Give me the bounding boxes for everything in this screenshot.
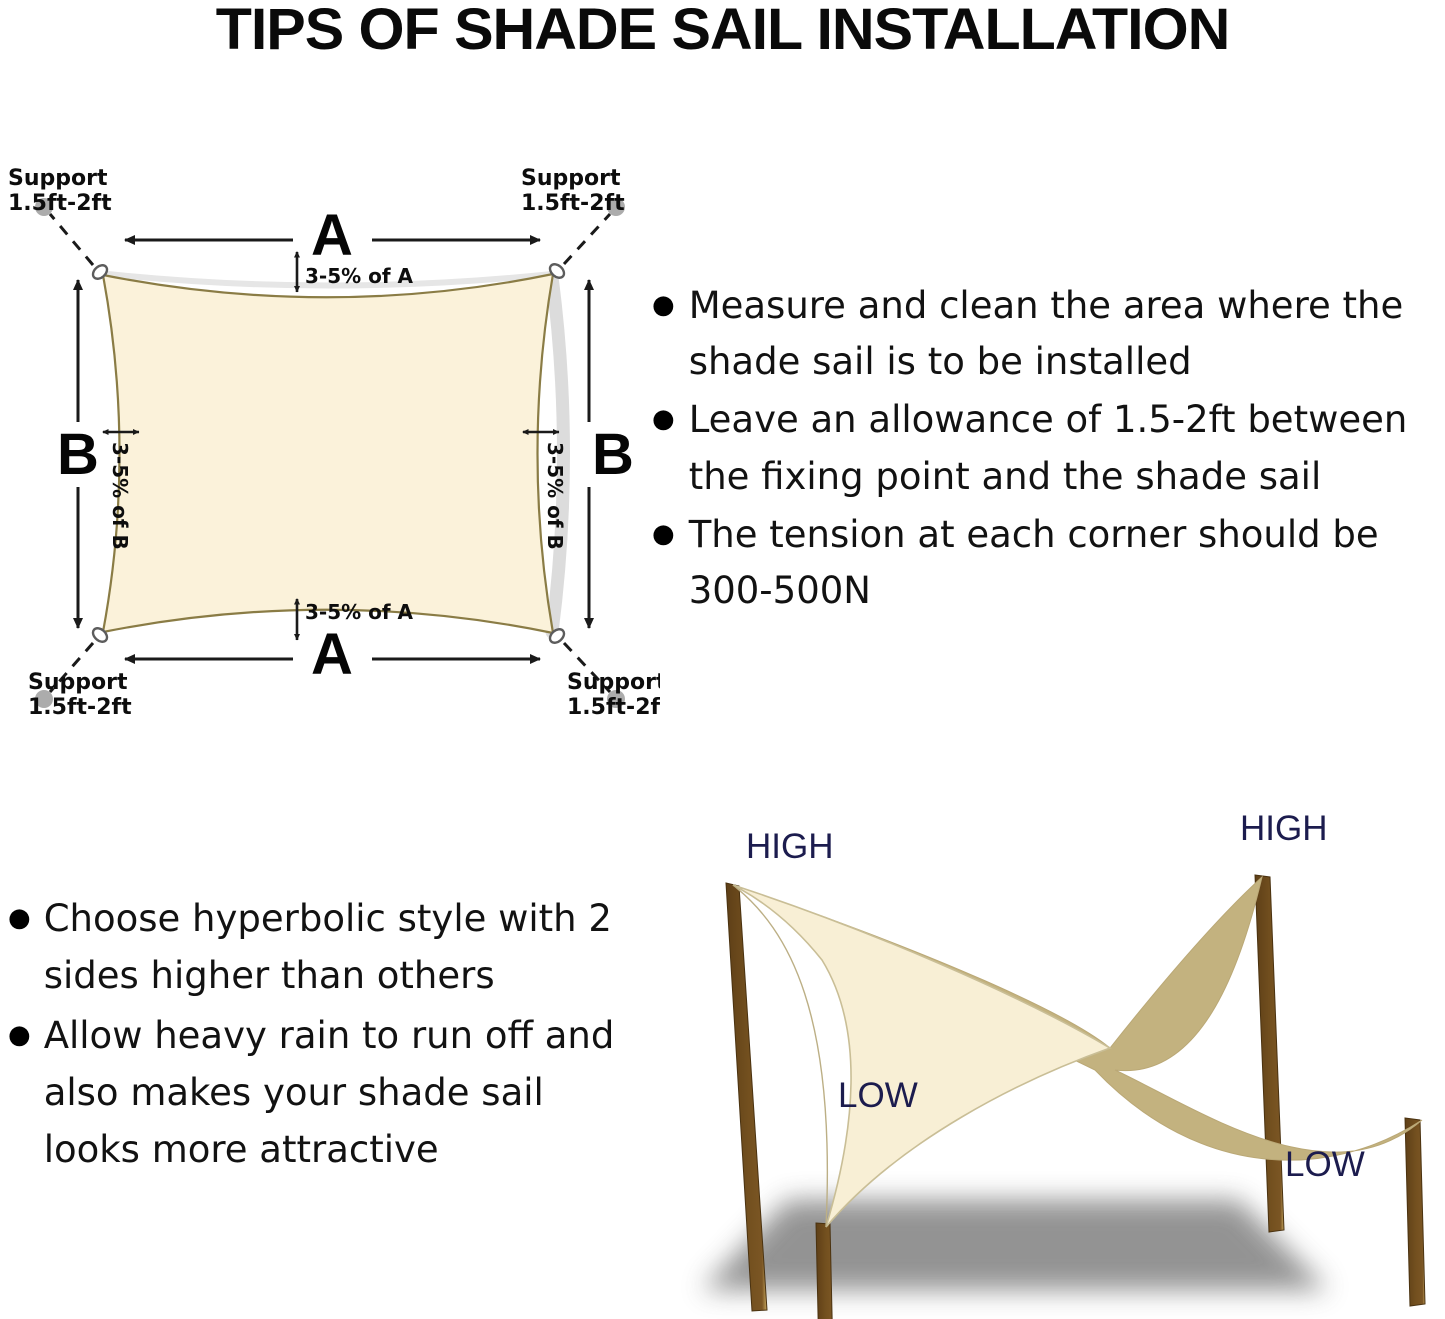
post-low-right	[1405, 1118, 1425, 1306]
label-low-right: LOW	[1285, 1145, 1365, 1184]
list-item: ● Leave an allowance of 1.5-2ft between …	[652, 392, 1445, 504]
support-top-left-line1: Support	[8, 166, 108, 191]
label-low-left: LOW	[838, 1076, 918, 1115]
dimension-a-top: A	[125, 203, 540, 268]
list-item-label: Choose hyperbolic style with 2 sides hig…	[44, 890, 628, 1005]
list-item-label: Measure and clean the area where the sha…	[689, 278, 1445, 390]
bullet-dot-icon: ●	[652, 292, 675, 318]
list-item-label: Allow heavy rain to run off and also mak…	[44, 1007, 628, 1179]
list-item: ● Measure and clean the area where the s…	[652, 278, 1445, 390]
post-high-right	[1255, 875, 1284, 1232]
ground-shadow	[702, 1200, 1328, 1290]
bullet-dot-icon: ●	[8, 1022, 31, 1048]
dimension-a-bottom-label: A	[311, 622, 353, 687]
support-top-right-line2: 1.5ft-2ft	[521, 191, 625, 216]
dimension-b-left-label: B	[57, 422, 99, 487]
dimension-a-bottom: A	[125, 622, 540, 687]
support-bottom-left-line2: 1.5ft-2ft	[28, 695, 132, 720]
sail-surface-front	[733, 885, 1110, 1227]
bullet-dot-icon: ●	[652, 521, 675, 547]
page-title: TIPS OF SHADE SAIL INSTALLATION	[0, 0, 1445, 63]
curve-depth-a-bottom-label: 3-5% of A	[305, 600, 414, 624]
support-top-right-line1: Support	[521, 166, 621, 191]
hyperbolic-sail-svg: HIGH HIGH LOW LOW	[640, 780, 1445, 1319]
support-bottom-right-line1: Support	[567, 670, 660, 695]
list-item-label: The tension at each corner should be 300…	[689, 507, 1445, 619]
bullet-dot-icon: ●	[652, 406, 675, 432]
dimension-a-top-label: A	[311, 203, 353, 268]
hyperbolic-tips-list: ● Choose hyperbolic style with 2 sides h…	[8, 890, 628, 1181]
list-item: ● Choose hyperbolic style with 2 sides h…	[8, 890, 628, 1005]
sail-body	[103, 274, 553, 633]
support-top-left-line2: 1.5ft-2ft	[8, 191, 112, 216]
dimension-b-left: B	[57, 280, 99, 628]
label-high-right: HIGH	[1240, 809, 1328, 848]
rectangle-sail-diagram: Support 1.5ft-2ft Support 1.5ft-2ft Supp…	[0, 162, 660, 732]
dimension-b-right-label: B	[592, 422, 634, 487]
curve-depth-b-right-label: 3-5% of B	[543, 442, 567, 550]
list-item-label: Leave an allowance of 1.5-2ft between th…	[689, 392, 1445, 504]
label-high-left: HIGH	[746, 827, 834, 866]
list-item: ● The tension at each corner should be 3…	[652, 507, 1445, 619]
list-item: ● Allow heavy rain to run off and also m…	[8, 1007, 628, 1179]
installation-tips-list: ● Measure and clean the area where the s…	[652, 278, 1445, 621]
rectangle-sail-svg: Support 1.5ft-2ft Support 1.5ft-2ft Supp…	[0, 162, 660, 732]
support-bottom-left-line1: Support	[28, 670, 128, 695]
hyperbolic-sail-illustration: HIGH HIGH LOW LOW	[640, 780, 1445, 1319]
dimension-b-right: B	[589, 280, 634, 628]
curve-depth-b-left-label: 3-5% of B	[108, 442, 132, 550]
support-bottom-right-line2: 1.5ft-2ft	[567, 695, 660, 720]
curve-depth-a-top-label: 3-5% of A	[305, 264, 414, 288]
infographic-page: TIPS OF SHADE SAIL INSTALLATION	[0, 0, 1445, 1319]
bullet-dot-icon: ●	[8, 905, 31, 931]
sail-surface-back	[733, 877, 1422, 1160]
